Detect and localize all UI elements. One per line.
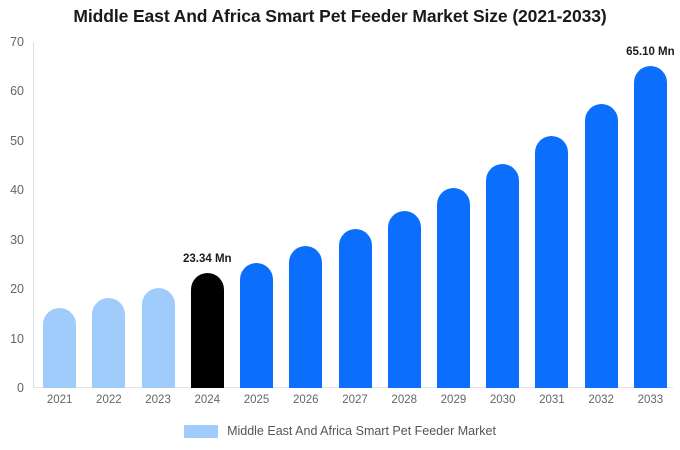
- y-axis-tick-label: 10: [10, 332, 24, 346]
- bar-column[interactable]: [486, 42, 519, 388]
- y-axis-tick-label: 70: [10, 35, 24, 49]
- chart-container: Middle East And Africa Smart Pet Feeder …: [0, 0, 680, 450]
- y-axis-tick-label: 40: [10, 183, 24, 197]
- bar[interactable]: [486, 164, 519, 388]
- x-axis-tick-label: 2025: [244, 394, 270, 406]
- bar-column[interactable]: 65.10 Mn: [634, 42, 667, 388]
- bar-column[interactable]: [43, 42, 76, 388]
- bar[interactable]: [289, 246, 322, 388]
- x-axis-tick-label: 2027: [342, 394, 368, 406]
- bar-column[interactable]: [289, 42, 322, 388]
- x-axis-tick-label: 2032: [588, 394, 614, 406]
- bar[interactable]: [92, 298, 125, 388]
- bar[interactable]: [437, 188, 470, 388]
- y-axis-line: [33, 42, 34, 388]
- x-axis-tick-label: 2028: [391, 394, 417, 406]
- y-axis-tick-label: 30: [10, 233, 24, 247]
- bar-column[interactable]: [240, 42, 273, 388]
- bar-column[interactable]: [535, 42, 568, 388]
- x-axis-tick-label: 2029: [441, 394, 467, 406]
- bar[interactable]: [43, 308, 76, 388]
- legend-label: Middle East And Africa Smart Pet Feeder …: [227, 424, 496, 438]
- x-axis-tick-label: 2021: [47, 394, 73, 406]
- bar-value-label: 65.10 Mn: [626, 46, 675, 58]
- bar[interactable]: [142, 288, 175, 388]
- bar-column[interactable]: [388, 42, 421, 388]
- bar[interactable]: [240, 263, 273, 388]
- x-axis-tick-label: 2022: [96, 394, 122, 406]
- bar[interactable]: [535, 136, 568, 388]
- bar-column[interactable]: 23.34 Mn: [191, 42, 224, 388]
- bar[interactable]: [339, 229, 372, 388]
- x-axis-tick-label: 2023: [145, 394, 171, 406]
- x-axis-tick-label: 2030: [490, 394, 516, 406]
- bar-column[interactable]: [142, 42, 175, 388]
- y-axis-tick-label: 60: [10, 84, 24, 98]
- x-axis-tick-label: 2031: [539, 394, 565, 406]
- bar-column[interactable]: [585, 42, 618, 388]
- bar[interactable]: [388, 211, 421, 388]
- y-axis-tick-label: 50: [10, 134, 24, 148]
- bar[interactable]: [585, 104, 618, 388]
- bar-column[interactable]: [92, 42, 125, 388]
- legend-color-swatch: [184, 425, 218, 438]
- bar-column[interactable]: [339, 42, 372, 388]
- bar-column[interactable]: [437, 42, 470, 388]
- y-axis-tick-label: 20: [10, 282, 24, 296]
- chart-title: Middle East And Africa Smart Pet Feeder …: [0, 6, 680, 27]
- bar[interactable]: [634, 66, 667, 388]
- x-axis-tick-label: 2026: [293, 394, 319, 406]
- plot-area: 010203040506070 23.34 Mn65.10 Mn 2021202…: [33, 42, 673, 388]
- x-axis-tick-label: 2024: [195, 394, 221, 406]
- chart-legend: Middle East And Africa Smart Pet Feeder …: [0, 424, 680, 438]
- bar-value-label: 23.34 Mn: [183, 253, 232, 265]
- x-axis-tick-label: 2033: [638, 394, 664, 406]
- y-axis-tick-label: 0: [17, 381, 24, 395]
- bar[interactable]: [191, 273, 224, 388]
